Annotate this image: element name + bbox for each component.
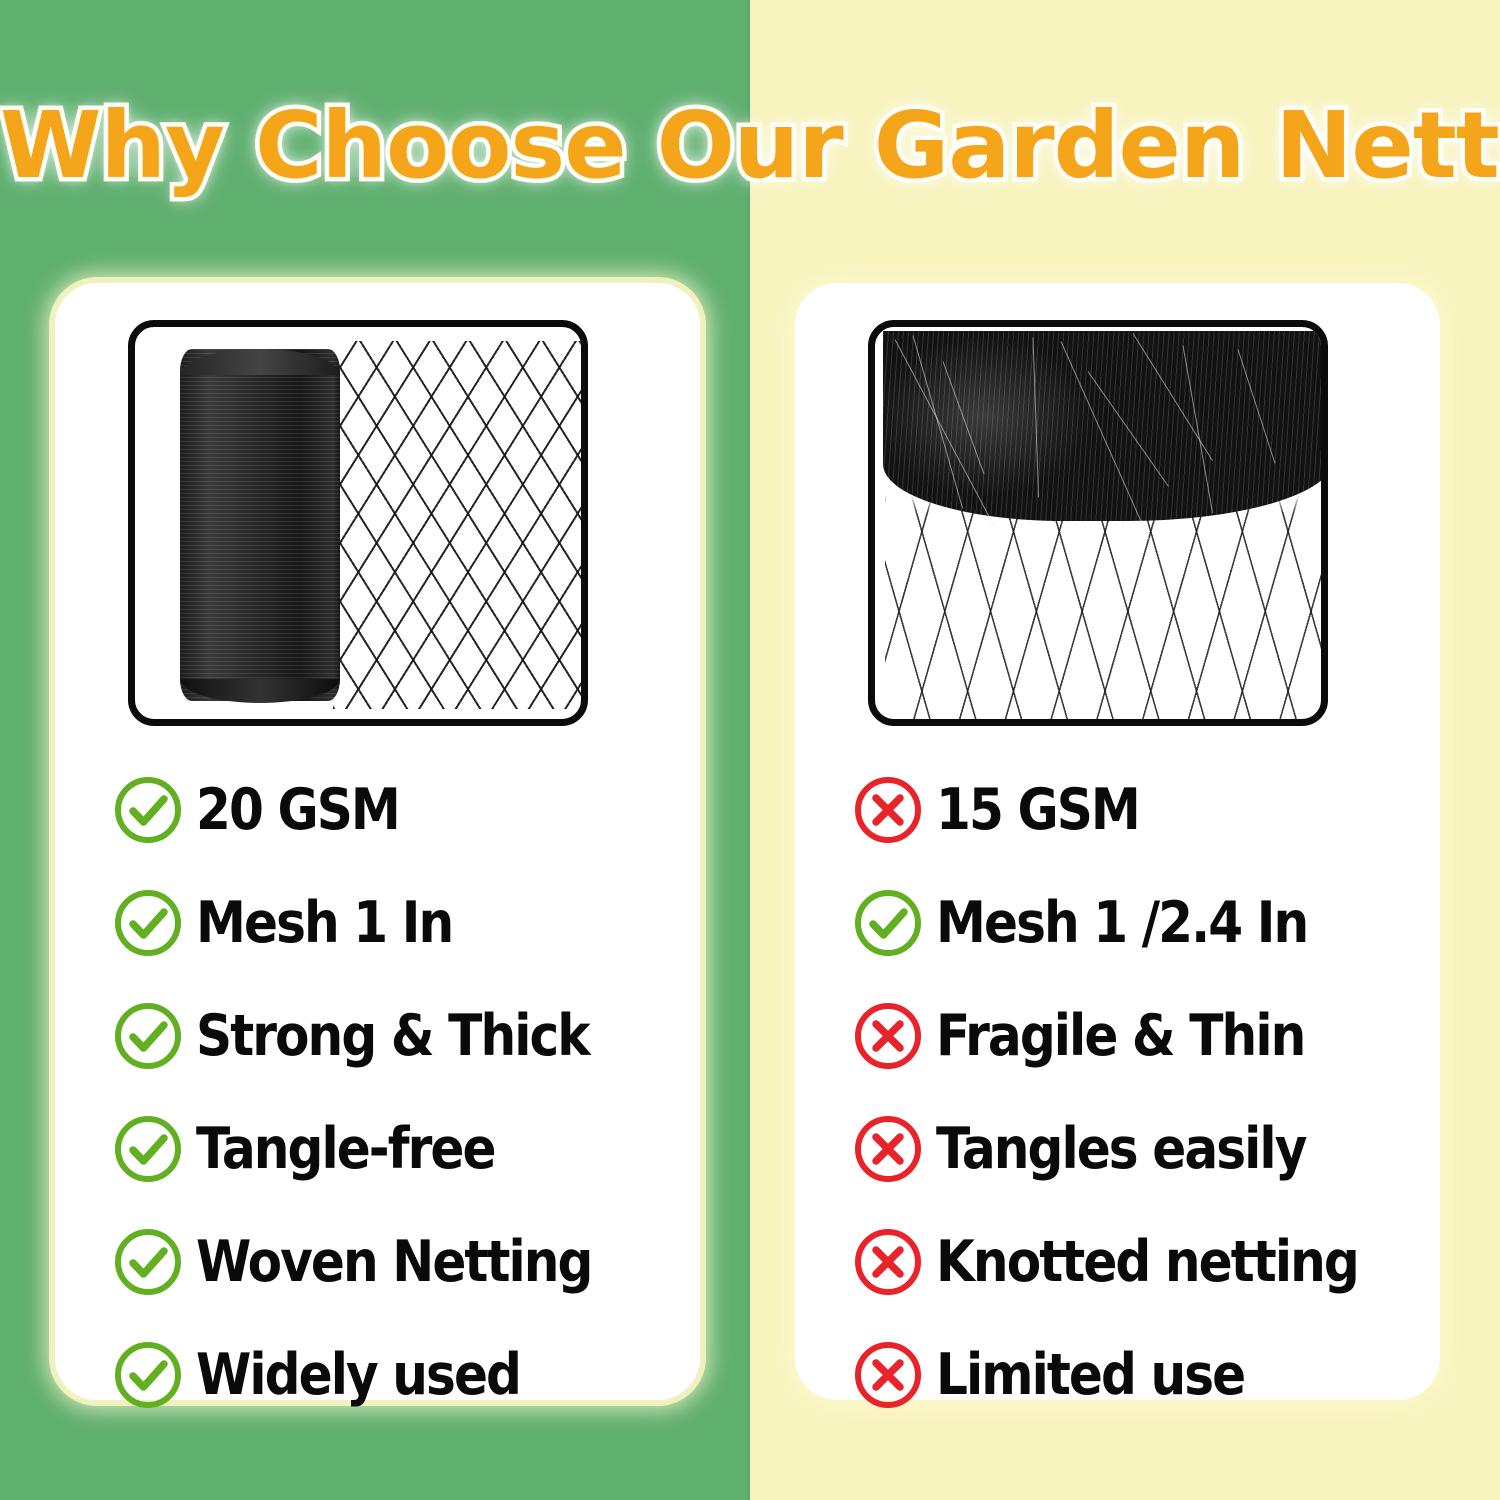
feature-row: 20 GSM [55, 753, 700, 866]
feature-label: Widely used [196, 1345, 520, 1405]
check-circle-icon [112, 887, 184, 959]
cross-circle-icon [852, 1113, 924, 1185]
feature-list-ours: 20 GSMMesh 1 InStrong & ThickTangle-free… [55, 753, 700, 1431]
loose-mesh-texture [885, 495, 1321, 719]
tangled-net-bundle [883, 331, 1321, 521]
check-circle-icon [112, 1000, 184, 1072]
feature-label: Tangle-free [196, 1119, 495, 1179]
feature-row: Limited use [795, 1318, 1440, 1431]
net-strand [1238, 349, 1276, 463]
panel-divider [748, 0, 752, 1500]
feature-row: Fragile & Thin [795, 979, 1440, 1092]
feature-row: Mesh 1 In [55, 866, 700, 979]
feature-row: Tangle-free [55, 1092, 700, 1205]
diamond-mesh-texture [333, 341, 581, 709]
feature-label: Mesh 1 In [196, 893, 452, 953]
feature-list-others: 15 GSMMesh 1 /2.4 InFragile & ThinTangle… [795, 753, 1440, 1431]
feature-row: Widely used [55, 1318, 700, 1431]
comparison-card-others: 15 GSMMesh 1 /2.4 InFragile & ThinTangle… [795, 283, 1440, 1400]
product-photo-ours [135, 327, 581, 719]
net-strand [913, 335, 964, 508]
net-strand [1133, 333, 1213, 461]
product-photo-others [875, 327, 1321, 719]
comparison-card-ours: 20 GSMMesh 1 InStrong & ThickTangle-free… [55, 283, 700, 1400]
feature-label: 15 GSM [936, 780, 1139, 840]
check-circle-icon [112, 1226, 184, 1298]
feature-row: Tangles easily [795, 1092, 1440, 1205]
feature-label: Fragile & Thin [936, 1006, 1304, 1066]
feature-label: Strong & Thick [196, 1006, 589, 1066]
cross-circle-icon [852, 1000, 924, 1072]
net-strand [943, 361, 985, 474]
feature-label: 20 GSM [196, 780, 399, 840]
netting-roll [180, 349, 340, 701]
feature-label: Limited use [936, 1345, 1244, 1405]
net-strand [1033, 337, 1040, 497]
check-circle-icon [112, 1339, 184, 1411]
infographic-root: Why Choose Our Garden Netting? 20 GSMMes… [0, 0, 1500, 1500]
feature-row: Knotted netting [795, 1205, 1440, 1318]
cross-circle-icon [852, 1226, 924, 1298]
feature-row: Strong & Thick [55, 979, 700, 1092]
cross-circle-icon [852, 774, 924, 846]
page-title: Why Choose Our Garden Netting? [0, 96, 1500, 196]
product-photo-frame-ours [128, 320, 588, 726]
net-strand [1183, 345, 1214, 513]
feature-row: 15 GSM [795, 753, 1440, 866]
feature-label: Knotted netting [936, 1232, 1358, 1292]
feature-row: Mesh 1 /2.4 In [795, 866, 1440, 979]
feature-row: Woven Netting [55, 1205, 700, 1318]
cross-circle-icon [852, 1339, 924, 1411]
check-circle-icon [852, 887, 924, 959]
check-circle-icon [112, 1113, 184, 1185]
feature-label: Tangles easily [936, 1119, 1305, 1179]
feature-label: Woven Netting [196, 1232, 591, 1292]
product-photo-frame-others [868, 320, 1328, 726]
check-circle-icon [112, 774, 184, 846]
feature-label: Mesh 1 /2.4 In [936, 893, 1307, 953]
